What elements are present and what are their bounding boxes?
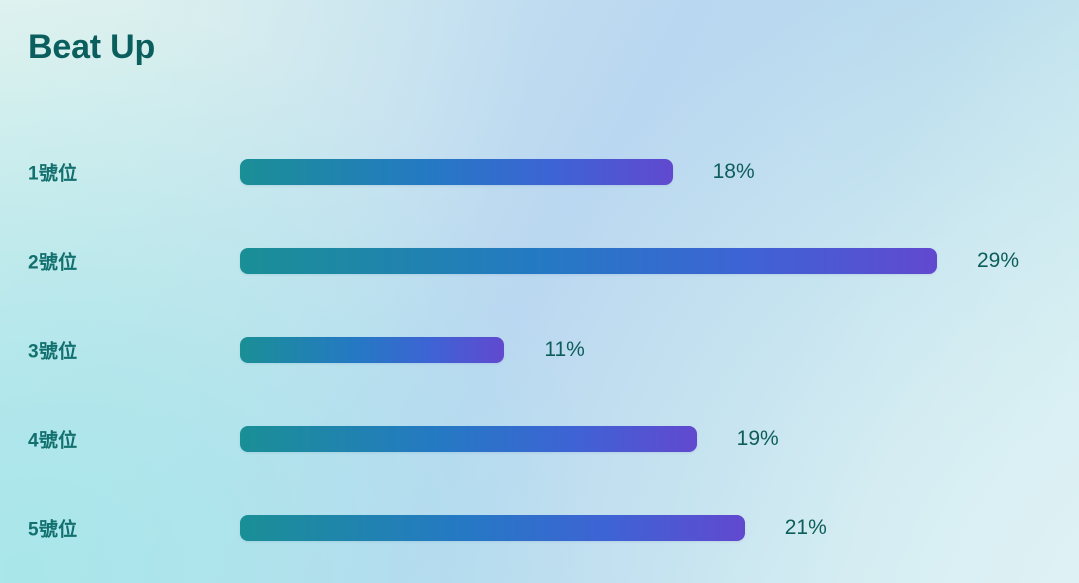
bar-category-label: 5號位 (28, 514, 77, 541)
bar-category-label: 3號位 (28, 336, 77, 363)
bar-value-label: 29% (977, 249, 1019, 273)
bar-track: 21% (240, 515, 1059, 541)
bar-row[interactable]: 4號位 19% (0, 407, 1079, 470)
bar-track: 11% (240, 337, 1059, 363)
bar-fill[interactable] (240, 248, 937, 274)
bar-value-label: 21% (785, 516, 827, 540)
bar-row[interactable]: 1號位 18% (0, 140, 1079, 203)
bar-chart-plot-area: 1號位 18% 2號位 29% 3號位 11% 4號位 19% (0, 140, 1079, 559)
bar-fill[interactable] (240, 159, 673, 185)
bar-value-label: 19% (737, 427, 779, 451)
bar-value-label: 18% (713, 160, 755, 184)
bar-value-label: 11% (544, 338, 584, 362)
bar-row[interactable]: 3號位 11% (0, 318, 1079, 381)
bar-row[interactable]: 2號位 29% (0, 229, 1079, 292)
bar-fill[interactable] (240, 337, 504, 363)
bar-category-label: 4號位 (28, 425, 77, 452)
bar-fill[interactable] (240, 515, 745, 541)
bar-chart-panel: Beat Up 1號位 18% 2號位 29% 3號位 11% 4號位 (0, 0, 1079, 583)
bar-row[interactable]: 5號位 21% (0, 496, 1079, 559)
bar-track: 18% (240, 159, 1059, 185)
bar-fill[interactable] (240, 426, 697, 452)
page-title: Beat Up (28, 25, 155, 69)
bar-track: 29% (240, 248, 1059, 274)
bar-category-label: 2號位 (28, 247, 77, 274)
bar-category-label: 1號位 (28, 158, 77, 185)
bar-track: 19% (240, 426, 1059, 452)
